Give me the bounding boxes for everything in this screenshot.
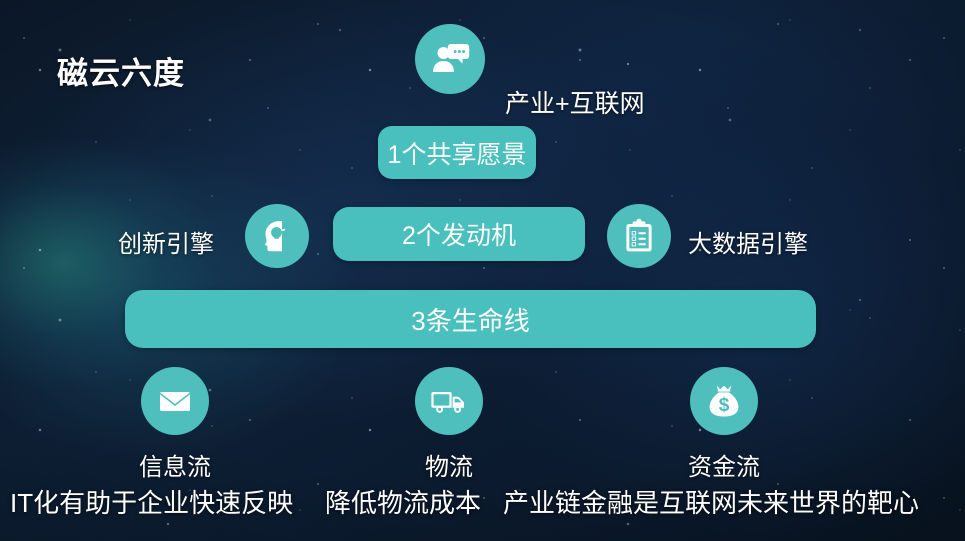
industry-internet-label: 产业+互联网 (505, 84, 645, 120)
svg-text:$: $ (719, 395, 730, 416)
bigdata-engine-label: 大数据引擎 (688, 224, 808, 259)
three-lifelines-pill[interactable]: 3条生命线 (125, 290, 816, 348)
head-lightbulb-icon (245, 204, 309, 268)
info-flow-caption: IT化有助于企业快速反映 (10, 483, 293, 520)
clipboard-checklist-icon (607, 204, 671, 268)
truck-icon (415, 367, 483, 435)
logistics-label: 物流 (389, 447, 509, 482)
envelope-icon (141, 367, 209, 435)
user-chat-icon (415, 24, 485, 94)
logistics-caption: 降低物流成本 (325, 483, 481, 520)
capital-flow-caption: 产业链金融是互联网未来世界的靶心 (503, 483, 919, 520)
presentation-slide: 磁云六度 产业+互联网 1个共享愿景 创新引擎 (0, 0, 965, 541)
capital-flow-label: 资金流 (664, 447, 784, 482)
slide-content: 磁云六度 产业+互联网 1个共享愿景 创新引擎 (0, 0, 965, 541)
shared-vision-pill[interactable]: 1个共享愿景 (378, 126, 536, 179)
money-bag-icon: $ (690, 367, 758, 435)
two-engines-pill[interactable]: 2个发动机 (333, 207, 585, 261)
slide-title: 磁云六度 (57, 48, 185, 93)
innovation-engine-label: 创新引擎 (118, 224, 214, 259)
info-flow-label: 信息流 (115, 447, 235, 482)
